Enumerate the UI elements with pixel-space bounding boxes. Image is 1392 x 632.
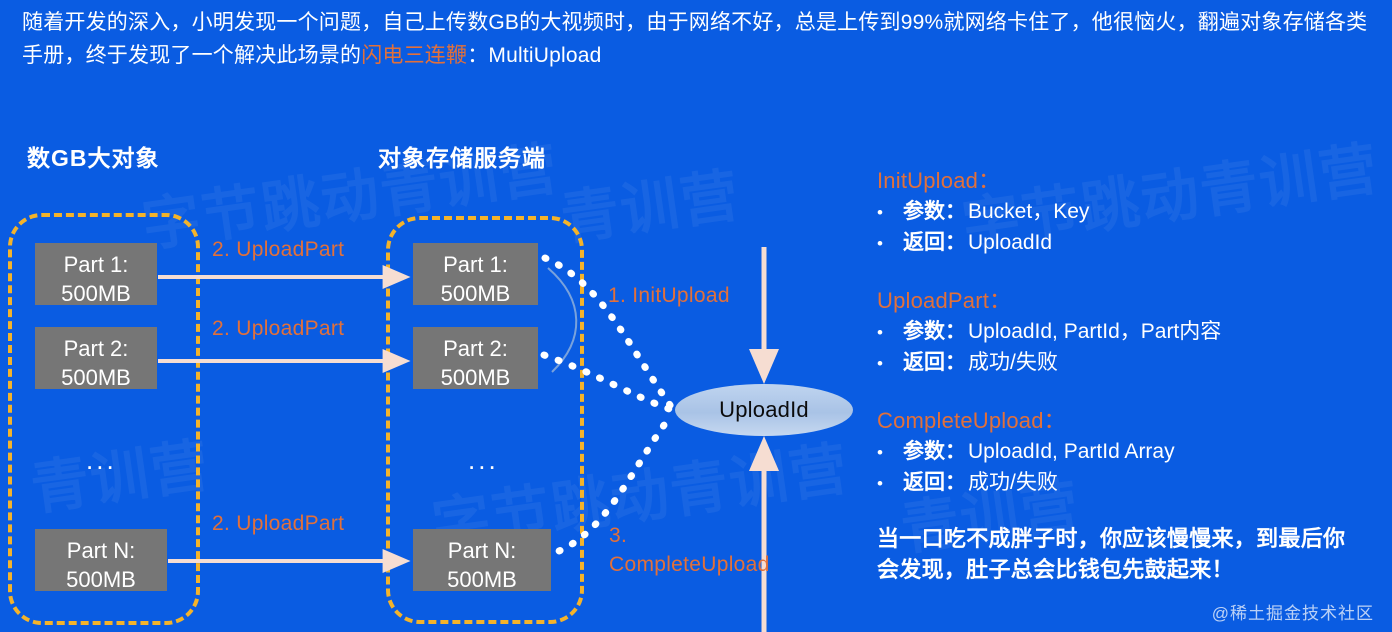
api-block-initupload: InitUpload： • 参数： Bucket，Key • 返回： Uploa… [877, 163, 1377, 259]
api-title: InitUpload： [877, 163, 1377, 195]
part-name: Part 1: [419, 250, 532, 279]
watermark-tile: 青训营 [555, 148, 745, 256]
part-size: 500MB [41, 565, 161, 594]
label-init-upload: 1. InitUpload [608, 284, 730, 308]
server-part-box: Part 2: 500MB [413, 327, 538, 389]
api-param-key: 参数： [903, 197, 966, 227]
api-param-key: 返回： [903, 348, 966, 378]
bullet-icon: • [877, 438, 903, 468]
closing-note-line-2: 会发现，肚子总会比钱包先鼓起来！ [877, 554, 1377, 585]
bullet-icon: • [877, 318, 903, 348]
api-param-value: UploadId [968, 228, 1052, 258]
uploadid-node: UploadId [675, 384, 853, 436]
api-line: • 返回： 成功/失败 [877, 468, 1377, 499]
closing-note-line-1: 当一口吃不成胖子时，你应该慢慢来，到最后你 [877, 523, 1377, 554]
api-line: • 参数： UploadId, PartId Array [877, 437, 1377, 468]
api-param-value: 成功/失败 [968, 348, 1058, 378]
closing-note: 当一口吃不成胖子时，你应该慢慢来，到最后你 会发现，肚子总会比钱包先鼓起来！ [877, 523, 1377, 585]
part-name: Part 2: [419, 334, 532, 363]
client-parts-ellipsis: ... [86, 447, 117, 473]
api-block-completeupload: CompleteUpload： • 参数： UploadId, PartId A… [877, 403, 1377, 499]
client-part-box: Part N: 500MB [35, 529, 167, 591]
api-line: • 返回： UploadId [877, 228, 1377, 259]
part-size: 500MB [419, 279, 532, 308]
api-title: UploadPart： [877, 283, 1377, 315]
caption-server-side: 对象存储服务端 [378, 139, 546, 173]
api-param-key: 参数： [903, 317, 966, 347]
api-param-key: 返回： [903, 468, 966, 498]
api-block-uploadpart: UploadPart： • 参数： UploadId, PartId，Part内… [877, 283, 1377, 379]
api-line: • 返回： 成功/失败 [877, 348, 1377, 379]
part-size: 500MB [419, 565, 545, 594]
bullet-icon: • [877, 198, 903, 228]
api-reference-panel: InitUpload： • 参数： Bucket，Key • 返回： Uploa… [877, 163, 1377, 585]
part-size: 500MB [41, 279, 151, 308]
api-param-value: Bucket，Key [968, 197, 1089, 227]
api-param-key: 返回： [903, 228, 966, 258]
part-name: Part 1: [41, 250, 151, 279]
bullet-icon: • [877, 349, 903, 379]
caption-client-object: 数GB大对象 [27, 139, 160, 173]
intro-line-2-suffix: ：MultiUpload [467, 44, 601, 67]
bullet-icon: • [877, 229, 903, 259]
label-complete-upload-name: CompleteUpload [609, 550, 770, 579]
part-name: Part N: [41, 536, 161, 565]
intro-paragraph: 随着开发的深入，小明发现一个问题，自己上传数GB的大视频时，由于网络不好，总是上… [22, 6, 1372, 72]
api-param-value: UploadId, PartId，Part内容 [968, 317, 1221, 347]
corner-watermark: @稀土掘金技术社区 [1212, 599, 1374, 624]
server-part-box: Part 1: 500MB [413, 243, 538, 305]
label-uploadpart-1: 2. UploadPart [212, 238, 344, 262]
client-part-box: Part 2: 500MB [35, 327, 157, 389]
api-param-value: 成功/失败 [968, 468, 1058, 498]
api-line: • 参数： UploadId, PartId，Part内容 [877, 317, 1377, 348]
part-size: 500MB [41, 363, 151, 392]
label-uploadpart-2: 2. UploadPart [212, 317, 344, 341]
label-complete-upload: 3. CompleteUpload [609, 521, 770, 579]
api-title: CompleteUpload： [877, 403, 1377, 435]
intro-line-1: 随着开发的深入，小明发现一个问题，自己上传数GB的大视频时，由于网络不好，总是上… [22, 11, 1198, 34]
label-uploadpart-n: 2. UploadPart [212, 512, 344, 536]
part-name: Part 2: [41, 334, 151, 363]
part-name: Part N: [419, 536, 545, 565]
api-param-key: 参数： [903, 437, 966, 467]
label-complete-upload-number: 3. [609, 521, 770, 550]
api-param-value: UploadId, PartId Array [968, 437, 1175, 467]
slide-canvas: 字节跳动青训营 青训营 字节跳动青训营 青训营 字节跳动青训营 青训营 随着开发… [0, 0, 1392, 632]
bullet-icon: • [877, 469, 903, 499]
server-part-box: Part N: 500MB [413, 529, 551, 591]
client-part-box: Part 1: 500MB [35, 243, 157, 305]
api-line: • 参数： Bucket，Key [877, 197, 1377, 228]
part-size: 500MB [419, 363, 532, 392]
server-parts-ellipsis: ... [468, 447, 499, 473]
intro-highlight: 闪电三连鞭 [361, 44, 467, 67]
